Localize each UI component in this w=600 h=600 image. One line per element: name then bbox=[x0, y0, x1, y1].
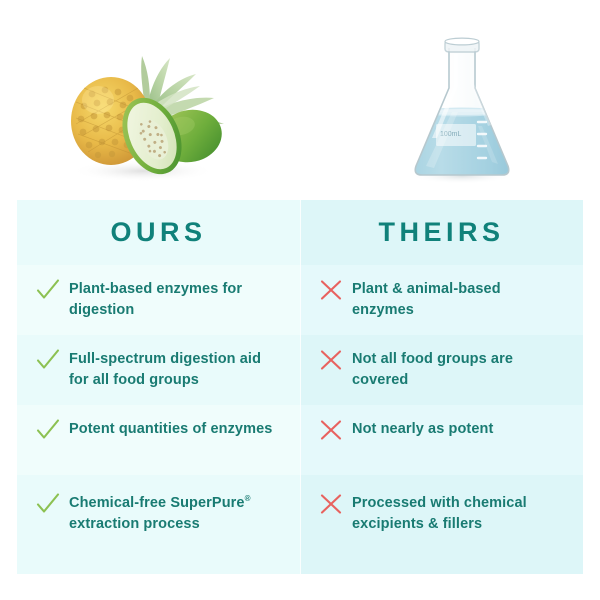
list-item: Plant & animal-based enzymes bbox=[352, 279, 565, 320]
check-icon bbox=[35, 347, 61, 373]
cross-icon bbox=[318, 347, 344, 373]
list-item: Not nearly as potent bbox=[352, 419, 493, 440]
table-row: Potent quantities of enzymes Not nearly … bbox=[17, 405, 583, 475]
theirs-heading: THEIRS bbox=[378, 219, 504, 246]
check-icon bbox=[35, 417, 61, 443]
list-item: Not all food groups are covered bbox=[352, 349, 565, 390]
ours-heading: OURS bbox=[110, 219, 206, 246]
table-row: Chemical-free SuperPure® extraction proc… bbox=[17, 475, 583, 574]
table-row: Plant-based enzymes for digestion Plant … bbox=[17, 265, 583, 335]
list-item: Potent quantities of enzymes bbox=[69, 419, 272, 440]
list-item-continued: extraction process bbox=[69, 516, 200, 532]
cell-theirs: Processed with chemical excipients & fil… bbox=[300, 475, 583, 574]
cross-icon bbox=[318, 277, 344, 303]
cell-ours: Chemical-free SuperPure® extraction proc… bbox=[17, 475, 300, 574]
cell-ours: Plant-based enzymes for digestion bbox=[17, 265, 300, 335]
column-header-ours: OURS bbox=[17, 200, 300, 265]
list-item: Processed with chemical excipients & fil… bbox=[352, 493, 565, 534]
list-item: Full-spectrum digestion aid for all food… bbox=[69, 349, 282, 390]
column-headers: OURS THEIRS bbox=[17, 200, 583, 265]
cell-theirs: Not all food groups are covered bbox=[300, 335, 583, 405]
erlenmeyer-flask-photo: 100mL bbox=[392, 26, 532, 194]
comparison-rows: Plant-based enzymes for digestion Plant … bbox=[17, 265, 583, 574]
cell-ours: Potent quantities of enzymes bbox=[17, 405, 300, 475]
check-icon bbox=[35, 491, 61, 517]
comparison-panel: OURS THEIRS Plant-based enzymes for dige… bbox=[17, 200, 583, 574]
list-item: Plant-based enzymes for digestion bbox=[69, 279, 282, 320]
list-item: Chemical-free SuperPure® extraction proc… bbox=[69, 493, 282, 534]
hero-images: 100mL bbox=[0, 0, 600, 200]
cell-theirs: Not nearly as potent bbox=[300, 405, 583, 475]
cross-icon bbox=[318, 491, 344, 517]
cell-theirs: Plant & animal-based enzymes bbox=[300, 265, 583, 335]
cell-ours: Full-spectrum digestion aid for all food… bbox=[17, 335, 300, 405]
registered-trademark-symbol: ® bbox=[245, 494, 251, 503]
list-item-main: Chemical-free SuperPure bbox=[69, 495, 245, 511]
pineapple-papaya-photo bbox=[48, 44, 238, 184]
cross-icon bbox=[318, 417, 344, 443]
check-icon bbox=[35, 277, 61, 303]
column-header-theirs: THEIRS bbox=[300, 200, 583, 265]
comparison-infographic: 100mL bbox=[0, 0, 600, 600]
table-row: Full-spectrum digestion aid for all food… bbox=[17, 335, 583, 405]
